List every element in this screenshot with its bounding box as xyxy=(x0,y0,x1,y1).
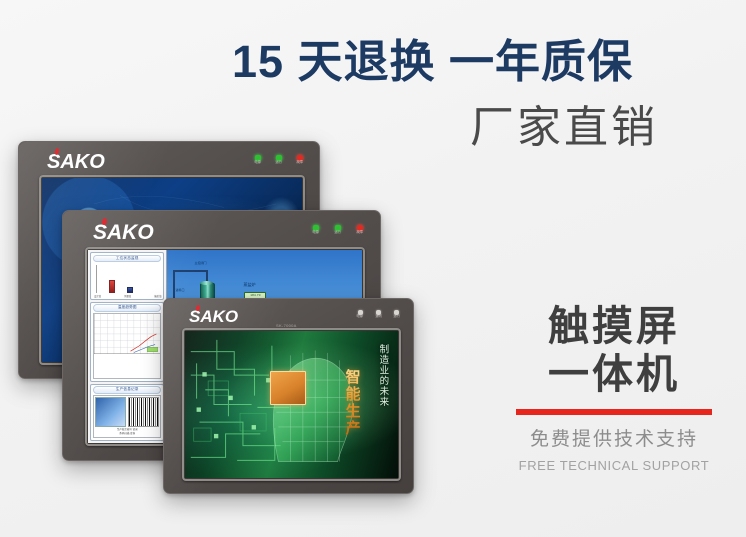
gauge-card[interactable]: 工位状态监视 设定值 测量值 偏差值 xyxy=(90,252,164,300)
records-thumbnails: 生产批次编号 记录 条码扫描 查询 xyxy=(93,395,161,438)
scada-sidebar: 工位状态监视 设定值 测量值 偏差值 xyxy=(88,250,167,443)
inlet-label: 进料口 xyxy=(175,289,184,292)
process-title: 蒸盐炉 xyxy=(243,283,255,287)
cpu-chip-graphic xyxy=(270,371,306,405)
ai-caption-gold: 智能生产 xyxy=(344,369,360,437)
headline-warranty: 15 天退换 一年质保 xyxy=(232,38,633,85)
product-name-line1: 触摸屏 xyxy=(500,302,728,350)
display-bezel: 制造业的未来 智能生产 xyxy=(182,328,401,481)
trend-chart xyxy=(93,313,161,379)
trend-chart-plot xyxy=(94,314,160,354)
records-caption-1: 生产批次编号 记录 xyxy=(95,428,159,432)
hmi-panel-front: SAKO 电源 通讯 运行 SK-7000A xyxy=(163,298,414,494)
display-screen-ai[interactable]: 制造业的未来 智能生产 xyxy=(185,331,398,478)
thumbnail-barcode[interactable] xyxy=(128,397,159,426)
sako-logo: SAKO xyxy=(93,222,154,243)
led-power: 电源 xyxy=(313,225,319,235)
product-name-line2: 一体机 xyxy=(500,350,728,398)
gauge-card-title: 工位状态监视 xyxy=(93,255,161,262)
led-fault: 故障 xyxy=(297,155,303,165)
thumbnail-photo[interactable] xyxy=(95,397,126,426)
advertisement-canvas: SAKO 电源 运行 故障 xyxy=(0,0,746,537)
product-name-block: 触摸屏 一体机 免费提供技术支持 FREE TECHNICAL SUPPORT xyxy=(500,302,728,473)
records-card[interactable]: 生产信息记录 生产批次编号 记录 条码扫描 查询 xyxy=(90,384,164,441)
led-power: 电源 xyxy=(255,155,261,165)
led-run: 运行 xyxy=(335,225,341,235)
sako-logo: SAKO xyxy=(47,152,105,172)
support-text-en: FREE TECHNICAL SUPPORT xyxy=(500,458,728,473)
gauge-body: 设定值 测量值 偏差值 xyxy=(91,263,163,299)
led-comm: 通讯 xyxy=(376,310,381,319)
support-text-cn: 免费提供技术支持 xyxy=(500,424,728,451)
trend-card-title: 温度趋势图 xyxy=(93,304,161,311)
gauge-legend: 设定值 测量值 偏差值 xyxy=(94,294,161,298)
red-divider xyxy=(516,409,712,415)
ai-graphic: 制造业的未来 智能生产 xyxy=(185,331,398,478)
records-caption-2: 条码扫描 查询 xyxy=(95,432,159,436)
valve-label: 主控阀门 xyxy=(194,262,206,265)
records-card-title: 生产信息记录 xyxy=(93,386,161,393)
led-power: 电源 xyxy=(357,310,362,319)
sako-logo: SAKO xyxy=(189,308,238,325)
trend-card[interactable]: 温度趋势图 xyxy=(90,302,164,382)
led-indicator-group: 电源 运行 故障 xyxy=(313,225,363,235)
led-indicator-group: 电源 通讯 运行 xyxy=(357,310,399,319)
led-fault: 故障 xyxy=(357,225,363,235)
ai-caption-thin: 制造业的未来 xyxy=(377,344,387,407)
led-run: 运行 xyxy=(276,155,282,165)
subhead-factory-direct: 厂家直销 xyxy=(470,104,658,152)
led-run: 运行 xyxy=(394,310,399,319)
led-indicator-group: 电源 运行 故障 xyxy=(255,155,303,165)
